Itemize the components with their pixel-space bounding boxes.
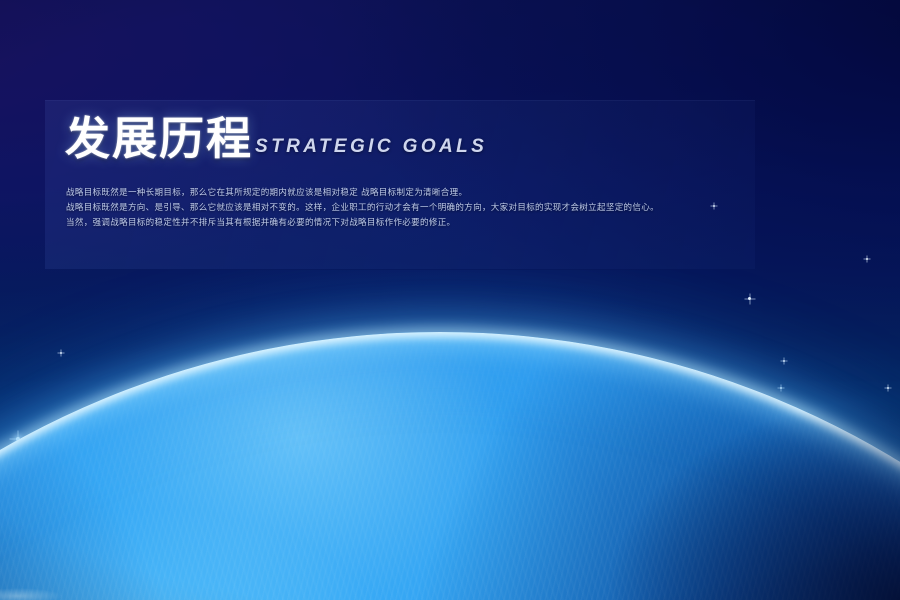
earth-surface-detail bbox=[0, 332, 900, 600]
heading-group: 发展历程 STRATEGIC GOALS bbox=[65, 116, 487, 161]
earth-sphere bbox=[0, 332, 900, 600]
body-copy-line: 当然，强调战略目标的稳定性并不排斥当其有根据并确有必要的情况下对战略目标作作必要… bbox=[66, 216, 866, 231]
body-copy: 战略目标既然是一种长期目标，那么它在其所规定的期内就应该是相对稳定 战略目标制定… bbox=[66, 186, 866, 231]
page-title: 发展历程 bbox=[65, 116, 253, 161]
hero-banner: 发展历程 STRATEGIC GOALS 战略目标既然是一种长期目标，那么它在其… bbox=[0, 0, 900, 600]
earth-illustration bbox=[0, 270, 900, 600]
page-subtitle: STRATEGIC GOALS bbox=[255, 136, 487, 161]
body-copy-line: 战略目标既然是一种长期目标，那么它在其所规定的期内就应该是相对稳定 战略目标制定… bbox=[66, 186, 866, 201]
body-copy-line: 战略目标既然是方向、是引导、那么它就应该是相对不变的。这样，企业职工的行动才会有… bbox=[66, 201, 866, 216]
